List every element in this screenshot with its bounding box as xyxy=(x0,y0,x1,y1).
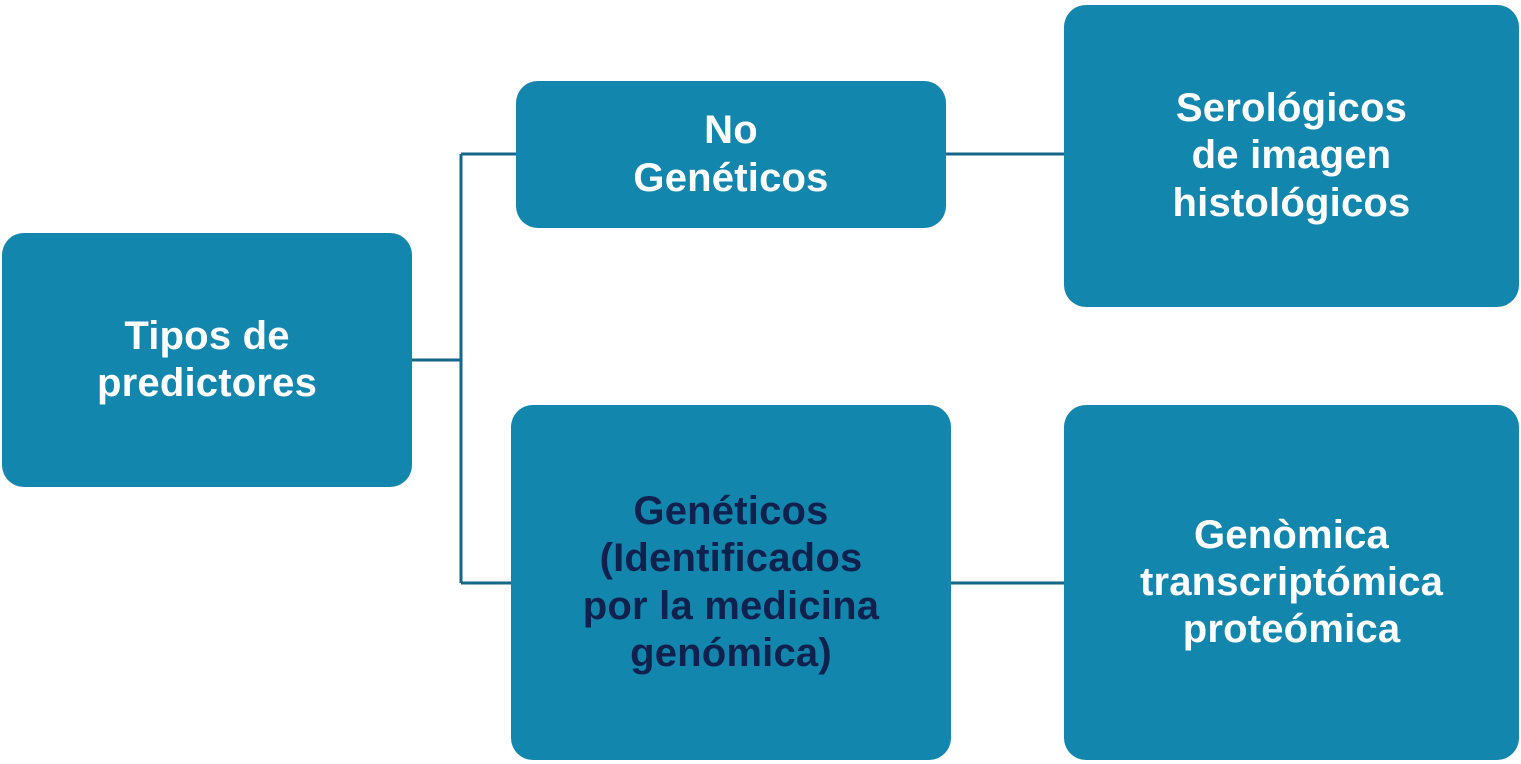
node-genomica-transcriptomica-proteomica[interactable]: Genòmica transcriptómica proteómica xyxy=(1064,405,1519,760)
diagram-canvas: Tipos de predictores No Genéticos Seroló… xyxy=(0,0,1521,764)
node-no-geneticos[interactable]: No Genéticos xyxy=(516,81,946,228)
node-serologicos-de-imagen-histologicos[interactable]: Serológicos de imagen histológicos xyxy=(1064,5,1519,307)
node-geneticos-identificados-por-la-medicina-genomica[interactable]: Genéticos (Identificados por la medicina… xyxy=(511,405,951,760)
node-tipos-de-predictores[interactable]: Tipos de predictores xyxy=(2,233,412,487)
